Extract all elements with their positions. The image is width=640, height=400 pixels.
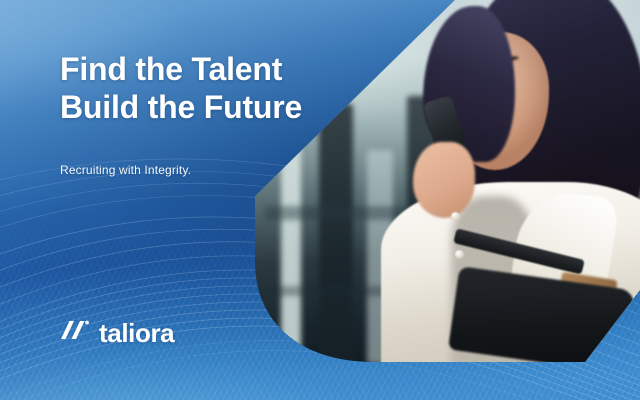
page-title: Find the Talent Build the Future <box>60 50 302 126</box>
promo-banner: Find the Talent Build the Future Recruit… <box>0 0 640 400</box>
tagline: Recruiting with Integrity. <box>60 163 191 177</box>
brand-logo[interactable]: taliora <box>60 319 174 346</box>
brand-wordmark: taliora <box>99 320 174 346</box>
double-chevron-mark-icon <box>60 319 90 346</box>
